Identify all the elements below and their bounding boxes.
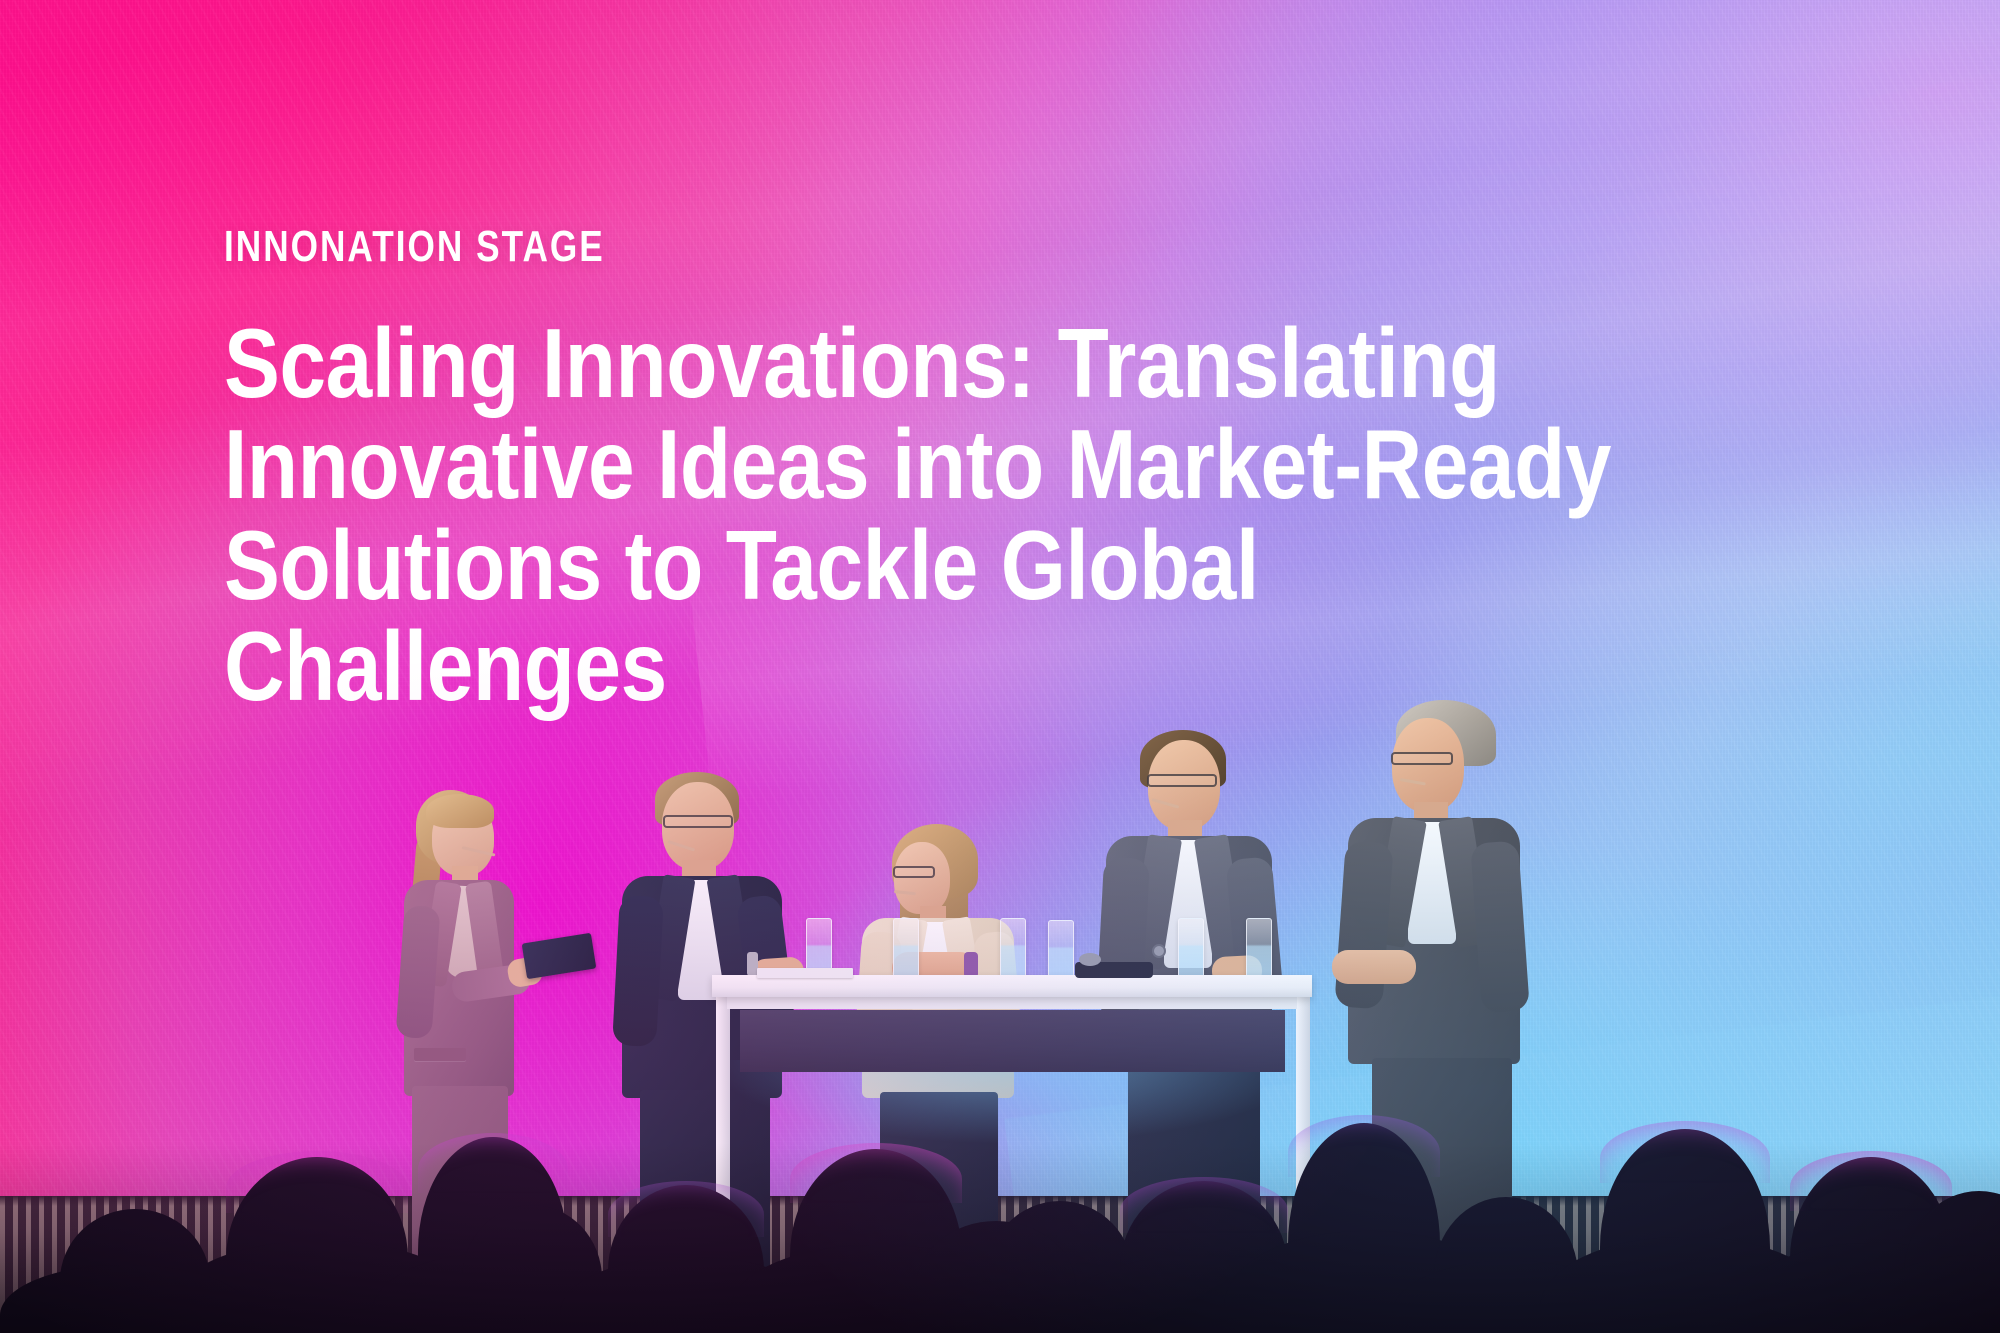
panelist5-glasses [1391, 752, 1453, 765]
water-glass-4 [1178, 918, 1204, 980]
handheld-microphone [1075, 962, 1153, 978]
table-apron [727, 997, 1297, 1009]
moderator-fringe [426, 794, 494, 828]
panelist2-arm-left [612, 895, 664, 1047]
panelist3-glasses [893, 866, 935, 878]
water-glass-5 [1246, 918, 1272, 980]
panel-table-top [712, 975, 1312, 997]
panelist5-head [1392, 718, 1464, 812]
panelist2-glasses [663, 815, 733, 828]
water-glass-6 [1048, 920, 1074, 982]
water-glass-2 [893, 918, 919, 980]
panelist3-head [894, 842, 950, 914]
panelist4-glasses [1147, 774, 1217, 787]
panelist4-jacket-button [1152, 944, 1166, 958]
papers-on-table [757, 968, 853, 978]
moderator-tablet [522, 933, 597, 980]
panelist5-clasped-hands [1332, 950, 1416, 984]
water-glass-3 [1000, 918, 1026, 980]
audience-silhouettes [0, 1060, 2000, 1333]
conference-stage-photo: INNONATION STAGE Scaling Innovations: Tr… [0, 0, 2000, 1333]
